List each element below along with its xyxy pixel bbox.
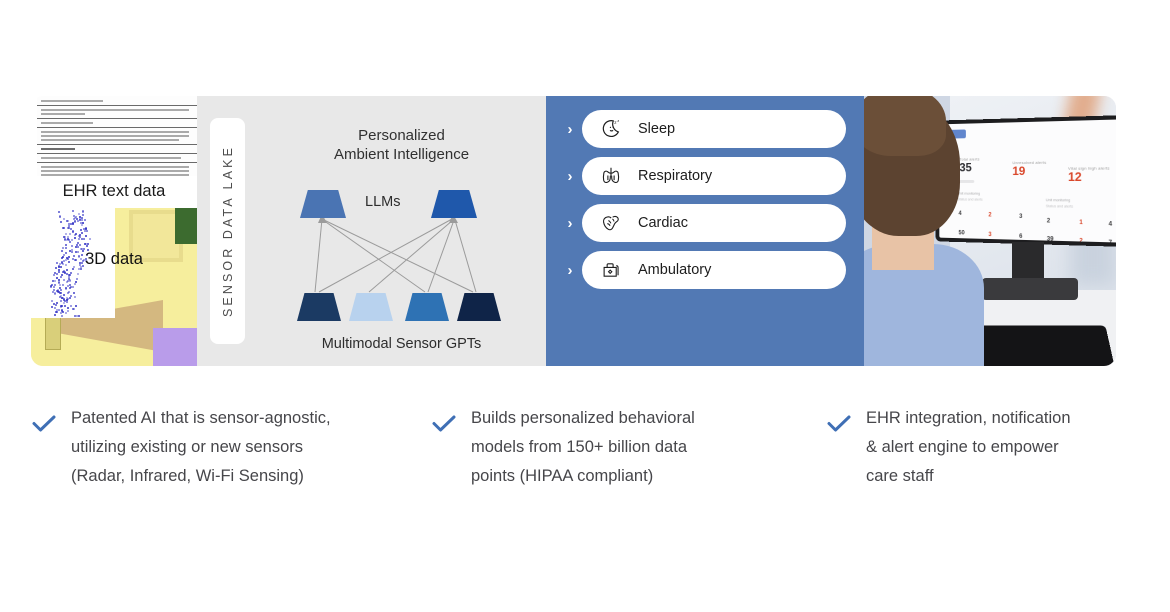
bullet-line: & alert engine to empower (866, 433, 1071, 462)
sensor-data-lake-panel: SENSOR DATA LAKE Personalized Ambient In… (197, 96, 546, 366)
bullet-item: Patented AI that is sensor-agnostic, uti… (31, 404, 431, 491)
monitor-screen-dashboard: Total alerts 35 Unresolved alerts 19 Vit… (939, 119, 1116, 242)
unit-metric: 39 (1047, 237, 1054, 243)
unit-metric: 7 (1109, 240, 1113, 242)
check-icon (826, 414, 866, 439)
unit-metric: 2 (1047, 218, 1050, 224)
dashboard-divider (958, 180, 975, 182)
3d-data-caption: 3D data (31, 250, 197, 269)
llms-label: LLMs (365, 194, 400, 210)
sensor-gpt-1 (297, 293, 341, 321)
moon-sleep-icon: z z (598, 116, 624, 142)
clinician-hair-top (864, 96, 946, 156)
ehr-clinical-note-image (37, 96, 197, 176)
bullet-item: EHR integration, notification & alert en… (826, 404, 1126, 491)
computer-monitor: Total alerts 35 Unresolved alerts 19 Vit… (936, 115, 1116, 247)
llm-node-left (300, 190, 346, 218)
bullet-line: EHR integration, notification (866, 404, 1071, 433)
unit-panel-subtitle-1: Status and alerts (958, 197, 983, 201)
unit-panel-title-1: Unit monitoring (958, 192, 980, 196)
purple-zone-overlay (153, 328, 197, 366)
data-sources-panel: EHR text data 3D data (31, 96, 197, 366)
bullet-text: Builds personalized behavioral models fr… (471, 404, 695, 491)
unit-metric: 6 (1019, 234, 1022, 240)
unit-panel-subtitle-2: Status and alerts (1046, 204, 1073, 208)
kpi-total-alerts: Total alerts 35 (959, 157, 979, 174)
capability-label-cardiac: Cardiac (638, 215, 688, 231)
unit-panel-title-2: Unit monitoring (1046, 198, 1070, 202)
bullet-line: Patented AI that is sensor-agnostic, (71, 404, 331, 433)
unit-metric: 3 (988, 232, 991, 238)
svg-text:z: z (617, 119, 619, 123)
ehr-text-data-caption: EHR text data (31, 176, 197, 206)
chevron-right-icon: › (558, 121, 582, 138)
bullet-line: models from 150+ billion data (471, 433, 695, 462)
capabilities-panel: › z z Sleep › (546, 96, 864, 366)
capability-card-cardiac[interactable]: Cardiac (582, 204, 846, 242)
kpi-vital-sign-high-alerts: Vital sign high alerts 12 (1068, 165, 1110, 183)
multimodal-sensor-gpts-label: Multimodal Sensor GPTs (267, 336, 536, 352)
clinician-at-monitor-photo: Total alerts 35 Unresolved alerts 19 Vit… (864, 96, 1116, 366)
bullet-line: (Radar, Infrared, Wi-Fi Sensing) (71, 462, 331, 491)
llm-node-right (431, 190, 477, 218)
check-icon (431, 414, 471, 439)
diagram-title: Personalized Ambient Intelligence (267, 126, 536, 164)
capability-row-sleep[interactable]: › z z Sleep (558, 110, 846, 148)
unit-metric: 1 (1079, 220, 1082, 226)
capability-banner: EHR text data 3D data SENSOR DATA LAKE P… (31, 96, 1116, 366)
sensor-gpt-3 (405, 293, 449, 321)
capability-row-cardiac[interactable]: › Cardiac (558, 204, 846, 242)
bullet-text: EHR integration, notification & alert en… (866, 404, 1071, 491)
capability-card-ambulatory[interactable]: Ambulatory (582, 251, 846, 289)
bullet-text: Patented AI that is sensor-agnostic, uti… (71, 404, 331, 491)
unit-metric: 3 (1019, 214, 1022, 220)
sensor-data-lake-tab: SENSOR DATA LAKE (210, 118, 245, 344)
unit-metric: 50 (958, 230, 964, 236)
sensor-gpt-2 (349, 293, 393, 321)
unit-metric: 2 (1079, 238, 1082, 242)
bullet-line: utilizing existing or new sensors (71, 433, 331, 462)
chevron-right-icon: › (558, 215, 582, 232)
capability-label-sleep: Sleep (638, 121, 675, 137)
kpi-unresolved-alerts: Unresolved alerts 19 (1012, 160, 1046, 177)
capability-row-respiratory[interactable]: › Respiratory (558, 157, 846, 195)
bullet-item: Builds personalized behavioral models fr… (431, 404, 826, 491)
diagram-title-line1: Personalized (267, 126, 536, 145)
diagram-title-line2: Ambient Intelligence (267, 145, 536, 164)
bullet-line: care staff (866, 462, 1071, 491)
kpi-value: 12 (1068, 171, 1110, 183)
capability-label-respiratory: Respiratory (638, 168, 712, 184)
kpi-value: 19 (1012, 165, 1046, 177)
capability-card-respiratory[interactable]: Respiratory (582, 157, 846, 195)
lungs-icon (598, 163, 624, 189)
bullet-line: points (HIPAA compliant) (471, 462, 695, 491)
medical-bag-icon (598, 257, 624, 283)
unit-metric: 4 (958, 211, 961, 217)
capability-label-ambulatory: Ambulatory (638, 262, 711, 278)
chevron-right-icon: › (558, 262, 582, 279)
unit-metric: 4 (1109, 221, 1113, 227)
bullet-line: Builds personalized behavioral (471, 404, 695, 433)
sensor-data-lake-label: SENSOR DATA LAKE (221, 145, 235, 317)
monitor-stand-neck (1012, 242, 1044, 282)
unit-metric: 2 (988, 212, 991, 218)
sensor-gpt-4 (457, 293, 501, 321)
plant-decor (175, 208, 197, 244)
capability-row-ambulatory[interactable]: › Ambulatory (558, 251, 846, 289)
check-icon (31, 414, 71, 439)
monitor-stand-foot (982, 278, 1078, 300)
kpi-value: 35 (959, 161, 979, 173)
capability-card-sleep[interactable]: z z Sleep (582, 110, 846, 148)
3d-sensor-data-image: 3D data (31, 208, 197, 366)
heart-icon (598, 210, 624, 236)
chevron-right-icon: › (558, 168, 582, 185)
feature-bullets: Patented AI that is sensor-agnostic, uti… (31, 404, 1136, 491)
